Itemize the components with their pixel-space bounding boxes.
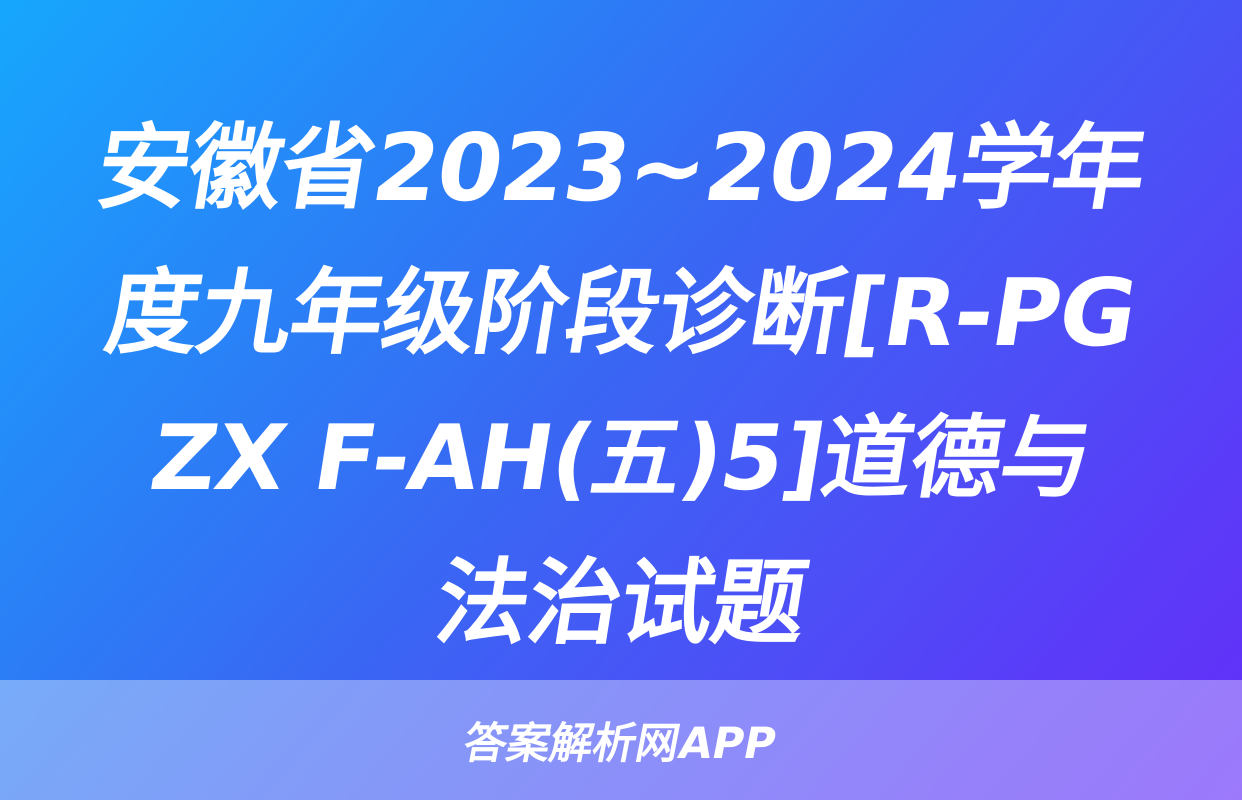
title-line-1: 安徽省2023~2024学年 <box>86 96 1156 241</box>
title-line-2: 度九年级阶段诊断[R-PG <box>95 241 1146 386</box>
poster-canvas: 安徽省2023~2024学年 度九年级阶段诊断[R-PG ZX F-AH(五)5… <box>0 0 1242 800</box>
title-line-4: 法治试题 <box>426 531 817 676</box>
title-block: 安徽省2023~2024学年 度九年级阶段诊断[R-PG ZX F-AH(五)5… <box>0 0 1242 680</box>
title-line-3: ZX F-AH(五)5]道德与 <box>140 386 1101 531</box>
footer-watermark-bar: 答案解析网APP <box>0 680 1242 800</box>
app-watermark-label: 答案解析网APP <box>459 709 782 771</box>
